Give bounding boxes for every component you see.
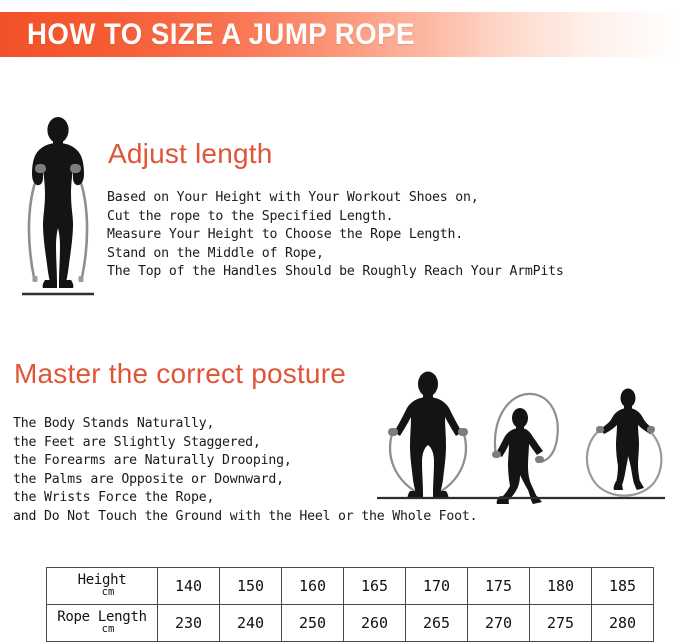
- row-label-rope-length: Rope Length cm: [47, 605, 158, 642]
- adjust-length-body: Based on Your Height with Your Workout S…: [107, 189, 679, 282]
- posture-figures: [372, 366, 669, 506]
- rope-length-cell: 260: [344, 605, 406, 642]
- infographic-page: HOW TO SIZE A JUMP ROPE: [0, 0, 679, 644]
- jumper-rope-below: [587, 389, 661, 496]
- rope-length-cell: 250: [282, 605, 344, 642]
- height-cell: 175: [468, 568, 530, 605]
- height-cell: 150: [220, 568, 282, 605]
- table-row: Rope Length cm 230 240 250 260 265 270 2…: [47, 605, 654, 642]
- rope-length-cell: 230: [158, 605, 220, 642]
- height-cell: 170: [406, 568, 468, 605]
- height-cell: 180: [530, 568, 592, 605]
- rope-length-cell: 240: [220, 605, 282, 642]
- posture-heading: Master the correct posture: [14, 358, 346, 390]
- height-cell: 160: [282, 568, 344, 605]
- page-title: HOW TO SIZE A JUMP ROPE: [27, 18, 415, 52]
- header-banner: HOW TO SIZE A JUMP ROPE: [0, 12, 679, 57]
- rope-length-cell: 280: [592, 605, 654, 642]
- standing-on-rope-figure: [12, 112, 104, 300]
- jumper-rope-behind: [388, 372, 468, 500]
- height-cell: 140: [158, 568, 220, 605]
- adjust-length-heading: Adjust length: [108, 138, 273, 170]
- sizing-table: Height cm 140 150 160 165 170 175 180 18…: [46, 567, 654, 642]
- height-cell: 185: [592, 568, 654, 605]
- row-unit-text: cm: [61, 624, 155, 635]
- height-cell: 165: [344, 568, 406, 605]
- row-label-text: Height: [49, 573, 155, 587]
- jumper-rope-overhead: [492, 394, 558, 504]
- rope-length-cell: 275: [530, 605, 592, 642]
- row-label-text: Rope Length: [49, 610, 155, 624]
- row-unit-text: cm: [61, 587, 155, 598]
- row-label-height: Height cm: [47, 568, 158, 605]
- table-row: Height cm 140 150 160 165 170 175 180 18…: [47, 568, 654, 605]
- rope-length-cell: 265: [406, 605, 468, 642]
- rope-length-cell: 270: [468, 605, 530, 642]
